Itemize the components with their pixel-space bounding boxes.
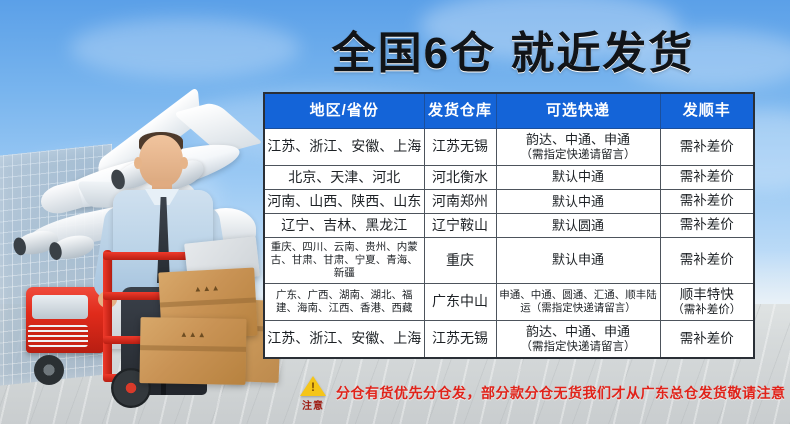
- cell-region: 重庆、四川、云南、贵州、内蒙古、甘肃、甘肃、宁夏、青海、新疆: [264, 238, 424, 283]
- cell-region: 北京、天津、河北: [264, 165, 424, 189]
- cell-warehouse: 江苏无锡: [424, 129, 496, 166]
- notice-text: 分仓有货优先分仓发，部分款分仓无货我们才从广东总仓发货敬请注意: [336, 383, 786, 403]
- warning-triangle-icon: 注意: [296, 376, 330, 410]
- table-row: 江苏、浙江、安徽、上海 江苏无锡 韵达、中通、申通 （需指定快递请留言） 需补差…: [264, 320, 754, 357]
- cell-express: 默认中通: [496, 165, 660, 189]
- cell-region: 河南、山西、陕西、山东: [264, 189, 424, 213]
- cell-express: 默认圆通: [496, 214, 660, 238]
- table-row: 广东、广西、湖南、湖北、福建、海南、江西、香港、西藏 广东中山 申通、中通、圆通…: [264, 283, 754, 320]
- cell-region: 辽宁、吉林、黑龙江: [264, 214, 424, 238]
- column-header-warehouse: 发货仓库: [424, 93, 496, 129]
- cell-warehouse: 江苏无锡: [424, 320, 496, 357]
- express-main: 默认圆通: [552, 218, 604, 233]
- cell-sf: 顺丰特快 （需补差价）: [660, 283, 754, 320]
- table-header: 地区/省份 发货仓库 可选快递 发顺丰: [264, 93, 754, 129]
- cell-region: 广东、广西、湖南、湖北、福建、海南、江西、香港、西藏: [264, 283, 424, 320]
- cell-region: 江苏、浙江、安徽、上海: [264, 320, 424, 357]
- sf-sub: （需补差价）: [663, 303, 752, 317]
- express-sub: （需指定快递请留言）: [499, 340, 658, 354]
- sf-main: 需补差价: [680, 217, 734, 232]
- cell-express: 韵达、中通、申通 （需指定快递请留言）: [496, 129, 660, 166]
- shipping-warehouse-banner: ▲▲▲ ▲▲▲ 全国6仓 就近发货 地区/省份 发货仓库 可选快递 发顺丰 江苏…: [0, 0, 790, 424]
- cell-sf: 需补差价: [660, 214, 754, 238]
- cell-sf: 需补差价: [660, 129, 754, 166]
- sf-main: 顺丰特快: [680, 287, 734, 302]
- sf-main: 需补差价: [680, 169, 734, 184]
- table-row: 辽宁、吉林、黑龙江 辽宁鞍山 默认圆通 需补差价: [264, 214, 754, 238]
- column-header-express: 可选快递: [496, 93, 660, 129]
- cell-sf: 需补差价: [660, 189, 754, 213]
- cell-express: 韵达、中通、申通 （需指定快递请留言）: [496, 320, 660, 357]
- table-row: 北京、天津、河北 河北衡水 默认中通 需补差价: [264, 165, 754, 189]
- cell-express: 默认申通: [496, 238, 660, 283]
- table-row: 河南、山西、陕西、山东 河南郑州 默认中通 需补差价: [264, 189, 754, 213]
- cell-express: 申通、中通、圆通、汇通、顺丰陆运（需指定快递请留言）: [496, 283, 660, 320]
- column-header-sf: 发顺丰: [660, 93, 754, 129]
- table-row: 江苏、浙江、安徽、上海 江苏无锡 韵达、中通、申通 （需指定快递请留言） 需补差…: [264, 129, 754, 166]
- cell-warehouse: 重庆: [424, 238, 496, 283]
- sf-main: 需补差价: [680, 252, 734, 267]
- column-header-region: 地区/省份: [264, 93, 424, 129]
- notice-label: 注意: [302, 397, 324, 412]
- cell-warehouse: 河南郑州: [424, 189, 496, 213]
- cell-region: 江苏、浙江、安徽、上海: [264, 129, 424, 166]
- cell-warehouse: 广东中山: [424, 283, 496, 320]
- express-main: 韵达、中通、申通: [526, 324, 630, 339]
- express-main: 默认中通: [552, 194, 604, 209]
- express-main: 韵达、中通、申通: [526, 132, 630, 147]
- cell-sf: 需补差价: [660, 165, 754, 189]
- notice-bar: 注意 分仓有货优先分仓发，部分款分仓无货我们才从广东总仓发货敬请注意: [296, 376, 786, 410]
- shipping-table-wrapper: 地区/省份 发货仓库 可选快递 发顺丰 江苏、浙江、安徽、上海 江苏无锡 韵达、…: [263, 92, 753, 359]
- table-header-row: 地区/省份 发货仓库 可选快递 发顺丰: [264, 93, 754, 129]
- cell-sf: 需补差价: [660, 238, 754, 283]
- cell-express: 默认中通: [496, 189, 660, 213]
- express-main: 默认申通: [552, 252, 604, 267]
- table-row: 重庆、四川、云南、贵州、内蒙古、甘肃、甘肃、宁夏、青海、新疆 重庆 默认申通 需…: [264, 238, 754, 283]
- cell-sf: 需补差价: [660, 320, 754, 357]
- sf-main: 需补差价: [680, 331, 734, 346]
- express-sub: （需指定快递请留言）: [499, 148, 658, 162]
- cell-warehouse: 河北衡水: [424, 165, 496, 189]
- sf-main: 需补差价: [680, 139, 734, 154]
- shipping-warehouse-table: 地区/省份 发货仓库 可选快递 发顺丰 江苏、浙江、安徽、上海 江苏无锡 韵达、…: [263, 92, 755, 359]
- table-body: 江苏、浙江、安徽、上海 江苏无锡 韵达、中通、申通 （需指定快递请留言） 需补差…: [264, 129, 754, 358]
- express-main: 默认中通: [552, 169, 604, 184]
- package-box-icon: ▲▲▲: [139, 317, 246, 385]
- page-title: 全国6仓 就近发货: [263, 17, 763, 81]
- sf-main: 需补差价: [680, 193, 734, 208]
- cell-warehouse: 辽宁鞍山: [424, 214, 496, 238]
